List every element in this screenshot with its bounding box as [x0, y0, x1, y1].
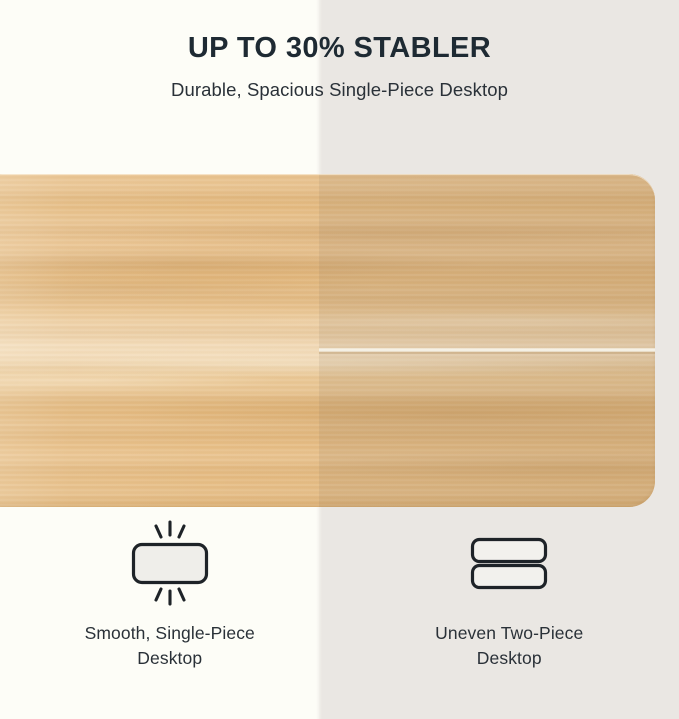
two-piece-icon-wrap: [450, 507, 568, 611]
product-image-desktop: [0, 174, 655, 507]
single-piece-desktop-sparkle-icon: [111, 517, 229, 609]
single-piece-icon-wrap: [111, 507, 229, 611]
comparison-column-right: Uneven Two-Piece Desktop: [340, 507, 679, 719]
page-title: UP TO 30% STABLER: [0, 0, 679, 65]
comparison-row: Smooth, Single-Piece Desktop Uneven Two-…: [0, 507, 679, 719]
page-subtitle: Durable, Spacious Single-Piece Desktop: [0, 65, 679, 101]
two-piece-seam-shadow: [319, 352, 655, 354]
caption-line-2: Desktop: [85, 646, 255, 671]
product-feature-graphic: UP TO 30% STABLER Durable, Spacious Sing…: [0, 0, 679, 719]
caption-line-1: Smooth, Single-Piece: [85, 621, 255, 646]
comparison-caption-right: Uneven Two-Piece Desktop: [435, 611, 583, 672]
header: UP TO 30% STABLER Durable, Spacious Sing…: [0, 0, 679, 101]
comparison-column-left: Smooth, Single-Piece Desktop: [0, 507, 340, 719]
board-edge-shading: [0, 174, 655, 507]
comparison-caption-left: Smooth, Single-Piece Desktop: [85, 611, 255, 672]
caption-line-1: Uneven Two-Piece: [435, 621, 583, 646]
two-piece-desktop-icon: [450, 517, 568, 609]
caption-line-2: Desktop: [435, 646, 583, 671]
wood-board: [0, 174, 655, 507]
